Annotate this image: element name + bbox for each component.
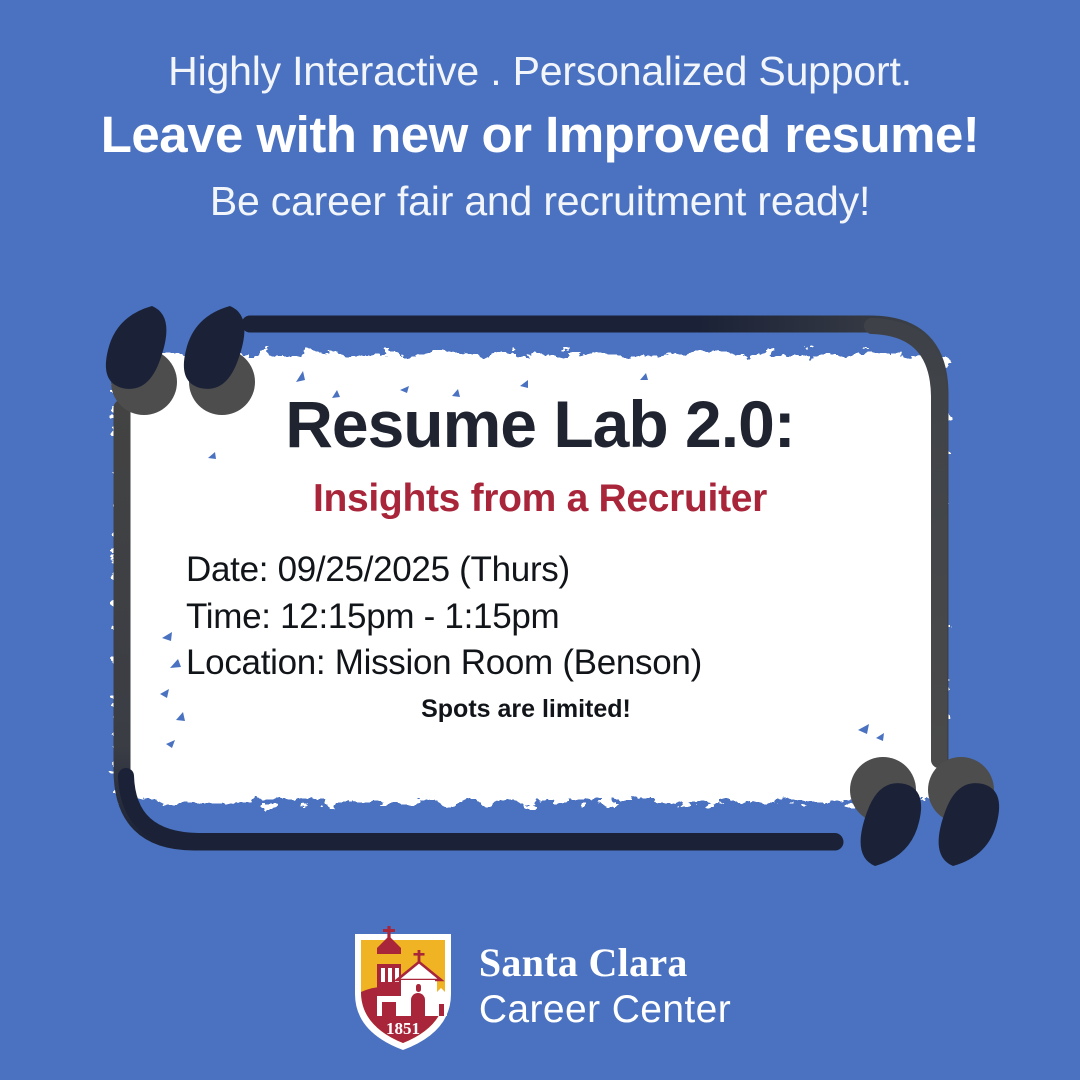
event-title: Resume Lab 2.0: bbox=[150, 390, 930, 459]
spots-limited-note: Spots are limited! bbox=[150, 695, 930, 724]
brand-line-university: Santa Clara bbox=[479, 943, 731, 983]
santa-clara-mission-shield-icon: 1851 bbox=[349, 920, 457, 1052]
event-date: Date: 09/25/2025 (Thurs) bbox=[186, 547, 930, 594]
event-subtitle: Insights from a Recruiter bbox=[150, 477, 930, 521]
flyer-canvas: Highly Interactive . Personalized Suppor… bbox=[0, 0, 1080, 1080]
event-time: Time: 12:15pm - 1:15pm bbox=[186, 594, 930, 641]
event-location: Location: Mission Room (Benson) bbox=[186, 640, 930, 687]
header-block: Highly Interactive . Personalized Suppor… bbox=[0, 48, 1080, 226]
event-card: Resume Lab 2.0: Insights from a Recruite… bbox=[60, 290, 1020, 880]
brand-logo: 1851 Santa Clara Career Center bbox=[0, 920, 1080, 1052]
brand-line-department: Career Center bbox=[479, 990, 731, 1029]
shield-year-label: 1851 bbox=[386, 1019, 420, 1038]
brand-wordmark: Santa Clara Career Center bbox=[479, 943, 731, 1029]
header-tagline: Highly Interactive . Personalized Suppor… bbox=[40, 48, 1040, 95]
header-headline: Leave with new or Improved resume! bbox=[40, 103, 1040, 167]
event-details-list: Date: 09/25/2025 (Thurs) Time: 12:15pm -… bbox=[150, 547, 930, 687]
header-subtagline: Be career fair and recruitment ready! bbox=[40, 177, 1040, 226]
card-text-block: Resume Lab 2.0: Insights from a Recruite… bbox=[150, 390, 930, 724]
